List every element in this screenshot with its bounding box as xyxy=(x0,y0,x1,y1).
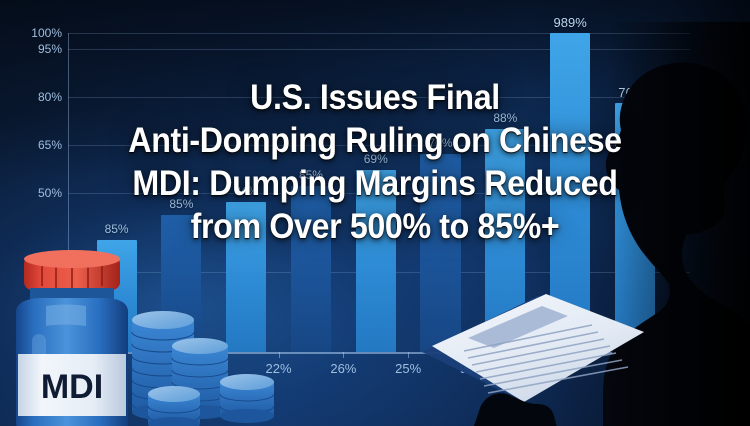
y-axis-tick: 65% xyxy=(0,136,62,154)
page-title: U.S. Issues Final Anti-Domping Ruling on… xyxy=(85,76,665,248)
y-axis-tick: 80% xyxy=(0,88,62,106)
y-axis-tick-label: 100% xyxy=(31,26,62,40)
x-axis-tick-mark xyxy=(279,352,280,358)
y-axis-tick: 100% xyxy=(0,24,62,42)
x-axis-tick-mark xyxy=(408,352,409,358)
headline-line-4: from Over 500% to 85%+ xyxy=(85,205,665,248)
headline-line-2: Anti-Domping Ruling on Chinese xyxy=(85,119,665,162)
mdi-bottle: MDI xyxy=(2,248,152,426)
bottle-label-text: MDI xyxy=(41,368,103,406)
ruling-document xyxy=(420,292,650,426)
x-axis-tick-mark xyxy=(343,352,344,358)
y-axis-tick-label: 65% xyxy=(38,138,62,152)
x-axis-tick-label: 26% xyxy=(330,361,356,376)
bar-value-label: 989% xyxy=(554,15,587,30)
y-axis-tick-label: 95% xyxy=(38,42,62,56)
y-axis-tick-label: 80% xyxy=(38,90,62,104)
y-axis-tick: 50% xyxy=(0,184,62,202)
infographic-canvas: 0%25%50%65%80%95%100% 85%85%84%85%69%70%… xyxy=(0,0,750,426)
y-axis-tick-label: 50% xyxy=(38,186,62,200)
gridline xyxy=(68,49,690,50)
gridline xyxy=(68,33,690,34)
x-axis-tick-label: 25% xyxy=(395,361,421,376)
headline-line-1: U.S. Issues Final xyxy=(85,76,665,119)
headline-line-3: MDI: Dumping Margins Reduced xyxy=(85,162,665,205)
y-axis-tick: 95% xyxy=(0,40,62,58)
